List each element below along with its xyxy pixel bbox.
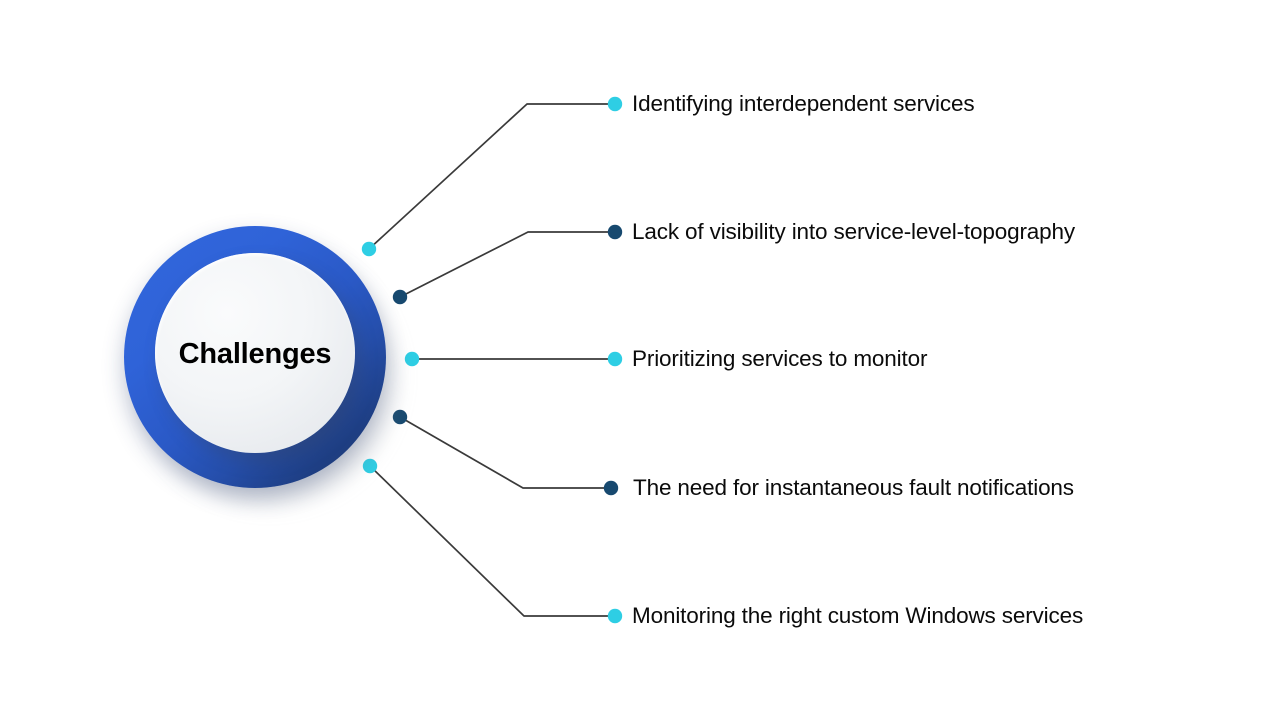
connector-line	[400, 417, 611, 488]
branch-end-dot	[608, 352, 622, 366]
hub-label: Challenges	[179, 338, 332, 371]
branch-label-monitoring-the-right-custom-windows-services: Monitoring the right custom Windows serv…	[632, 605, 1083, 628]
branch-label-identifying-interdependent-services: Identifying interdependent services	[632, 93, 974, 116]
branch-origin-dot	[393, 290, 407, 304]
connector-line	[369, 104, 615, 249]
hub-inner-circle: Challenges	[155, 253, 355, 453]
connector-line	[370, 466, 615, 616]
connector-dots	[362, 97, 622, 623]
branch-label-lack-of-visibility-into-service-level-topography: Lack of visibility into service-level-to…	[632, 221, 1075, 244]
branch-label-the-need-for-instantaneous-fault-notifications: The need for instantaneous fault notific…	[633, 477, 1074, 500]
branch-end-dot	[608, 225, 622, 239]
branch-end-dot	[608, 609, 622, 623]
connector-line	[400, 232, 615, 297]
branch-origin-dot	[405, 352, 419, 366]
challenges-radial-diagram: Challenges Identifying interdependent se…	[0, 0, 1280, 720]
branch-end-dot	[604, 481, 618, 495]
hub-circle: Challenges	[124, 226, 386, 488]
branch-label-prioritizing-services-to-monitor: Prioritizing services to monitor	[632, 348, 927, 371]
connector-lines	[369, 104, 615, 616]
branch-end-dot	[608, 97, 622, 111]
